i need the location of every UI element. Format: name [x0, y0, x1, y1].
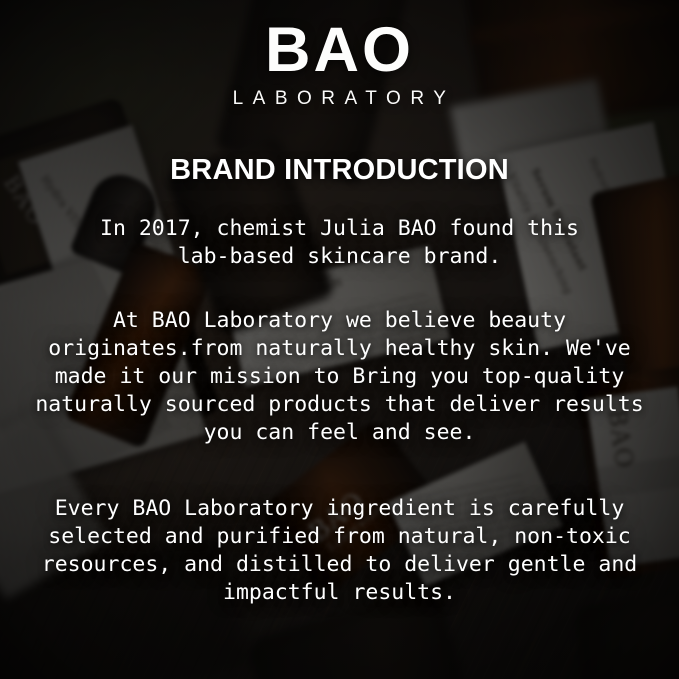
logo-wordmark: BAO — [265, 18, 414, 82]
poster-content: BAO LABORATORY BRAND INTRODUCTION In 201… — [0, 0, 679, 679]
intro-paragraph-3: Every BAO Laboratory ingredient is caref… — [42, 495, 637, 607]
page-title: BRAND INTRODUCTION — [170, 154, 509, 187]
intro-paragraph-2: At BAO Laboratory we believe beauty orig… — [35, 307, 643, 447]
logo-subtitle: LABORATORY — [233, 88, 456, 110]
brand-logo: BAO LABORATORY — [224, 18, 456, 110]
intro-paragraph-1: In 2017, chemist Julia BAO found this la… — [100, 215, 579, 271]
brand-introduction-poster: BAO Laboratory Hydra VITAMIN C Cream Int… — [0, 0, 679, 679]
